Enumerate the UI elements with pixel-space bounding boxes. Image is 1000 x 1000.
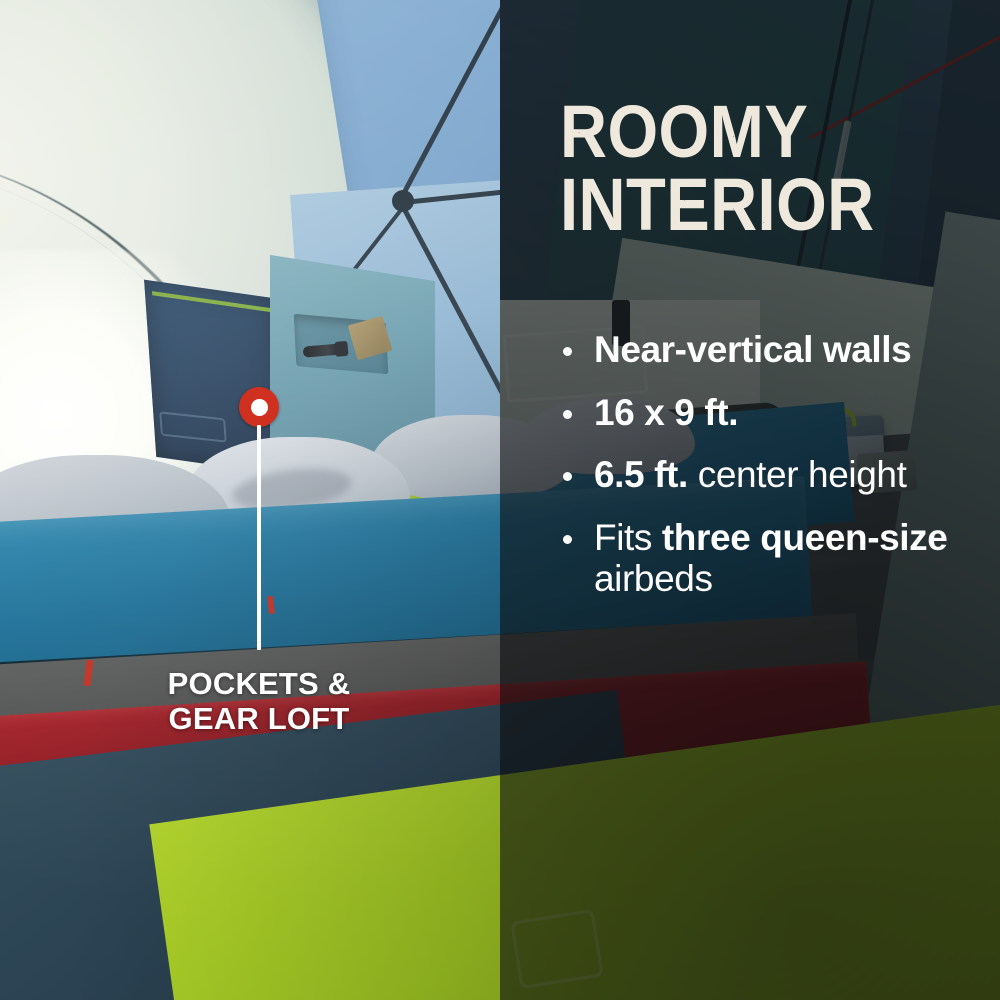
- callout-leader-line: [257, 425, 261, 650]
- feature-text: 6.5 ft. center height: [594, 455, 956, 496]
- headline-line-1: ROOMY: [560, 96, 930, 169]
- callout-marker-icon: [239, 387, 279, 427]
- bullet-dot-icon: [563, 347, 572, 356]
- feature-item-footprint-dimensions: 16 x 9 ft.: [556, 393, 956, 434]
- flashlight: [303, 343, 344, 357]
- callout-label: POCKETS & GEAR LOFT: [59, 666, 459, 737]
- feature-item-center-height: 6.5 ft. center height: [556, 455, 956, 496]
- feature-text: 16 x 9 ft.: [594, 393, 956, 434]
- feature-list: Near-vertical walls 16 x 9 ft. 6.5 ft. c…: [556, 330, 956, 599]
- callout-label-line-1: POCKETS &: [59, 666, 459, 701]
- brand-logo: [510, 909, 604, 989]
- headline: ROOMY INTERIOR: [560, 96, 930, 241]
- callout-marker-center: [251, 399, 268, 416]
- callout-label-line-2: GEAR LOFT: [59, 701, 459, 736]
- feature-text: Fits three queen-size airbeds: [594, 518, 956, 599]
- bullet-dot-icon: [563, 410, 572, 419]
- feature-item-near-vertical-walls: Near-vertical walls: [556, 330, 956, 371]
- bullet-dot-icon: [563, 472, 572, 481]
- product-feature-image: ROOMY INTERIOR Near-vertical walls 16 x …: [0, 0, 1000, 1000]
- feature-item-airbed-capacity: Fits three queen-size airbeds: [556, 518, 956, 599]
- tent-pole-hub: [392, 190, 414, 212]
- headline-line-2: INTERIOR: [560, 169, 930, 242]
- bullet-dot-icon: [563, 535, 572, 544]
- feature-text: Near-vertical walls: [594, 330, 956, 371]
